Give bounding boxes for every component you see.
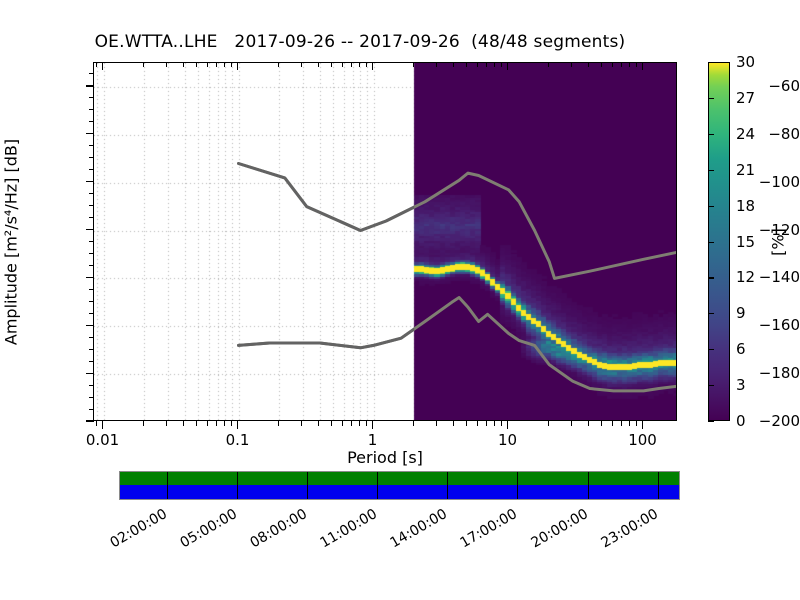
- colorbar-tick: [708, 421, 714, 422]
- x-tick: [601, 421, 602, 426]
- y-tick-minor: [89, 241, 94, 242]
- x-axis-label: Period [s]: [93, 448, 677, 467]
- x-tick: [301, 421, 302, 426]
- x-tick: [494, 421, 495, 426]
- timeline-tick: [167, 472, 168, 500]
- x-tick-top: [466, 62, 467, 67]
- x-tick-top: [331, 62, 332, 67]
- x-tick-top: [571, 62, 572, 67]
- timeline-tick: [658, 472, 659, 500]
- x-tick: [96, 421, 97, 426]
- y-tick: [86, 85, 94, 86]
- colorbar-tick-label: 15: [736, 233, 755, 251]
- timeline-row-data-availability: [120, 472, 679, 485]
- x-tick-top: [196, 62, 197, 67]
- y-tick-minor: [89, 217, 94, 218]
- y-tick-minor: [89, 397, 94, 398]
- y-tick-minor: [89, 145, 94, 146]
- y-tick-minor: [89, 409, 94, 410]
- x-tick: [318, 421, 319, 426]
- y-tick-minor: [89, 157, 94, 158]
- y-tick-minor: [89, 385, 94, 386]
- colorbar-tick: [708, 62, 714, 63]
- colorbar-tick: [708, 242, 714, 243]
- timeline-tick-label: 14:00:00: [388, 506, 450, 551]
- x-tick: [642, 421, 643, 429]
- y-tick: [86, 420, 94, 421]
- colorbar-tick: [708, 98, 714, 99]
- colorbar-unit-label: [%]: [766, 62, 790, 421]
- y-tick-minor: [89, 169, 94, 170]
- x-tick: [166, 421, 167, 426]
- y-tick-minor: [89, 265, 94, 266]
- page-title: OE.WTTA..LHE 2017-09-26 -- 2017-09-26 (4…: [0, 32, 720, 52]
- x-tick-top: [501, 62, 502, 67]
- y-tick: [86, 181, 94, 182]
- x-tick: [629, 421, 630, 426]
- colorbar-tick: [708, 134, 714, 135]
- y-tick: [86, 277, 94, 278]
- x-tick: [612, 421, 613, 426]
- colorbar-tick: [708, 277, 714, 278]
- timeline-tick-label: 02:00:00: [107, 506, 169, 551]
- x-tick-top: [351, 62, 352, 67]
- y-tick-minor: [89, 313, 94, 314]
- colorbar-tick-label: 3: [736, 376, 746, 394]
- x-tick-label: 1: [368, 431, 378, 449]
- x-tick-top: [494, 62, 495, 67]
- x-tick: [196, 421, 197, 426]
- timeline-tick: [377, 472, 378, 500]
- y-tick: [86, 133, 94, 134]
- y-axis-label-text: Amplitude [m²/s⁴/Hz] [dB]: [2, 138, 21, 344]
- ppsd-plot-area: [93, 62, 677, 421]
- nlnm-curve-white-segment: [239, 298, 678, 391]
- y-axis-label: Amplitude [m²/s⁴/Hz] [dB]: [0, 62, 24, 421]
- y-tick-minor: [89, 73, 94, 74]
- x-tick-top: [642, 62, 643, 70]
- y-tick-minor: [89, 349, 94, 350]
- timeline-tick: [447, 472, 448, 500]
- x-tick: [207, 421, 208, 426]
- x-tick: [231, 421, 232, 426]
- y-tick: [86, 325, 94, 326]
- timeline-tick: [588, 472, 589, 500]
- y-tick-minor: [89, 121, 94, 122]
- colorbar-tick-label: 9: [736, 304, 746, 322]
- x-tick-label: 100: [628, 431, 657, 449]
- x-tick-label: 0.01: [86, 431, 119, 449]
- x-tick-top: [301, 62, 302, 67]
- x-tick-top: [342, 62, 343, 67]
- x-tick: [453, 421, 454, 426]
- x-tick-top: [318, 62, 319, 67]
- x-tick-top: [486, 62, 487, 67]
- colorbar-tick-label: 6: [736, 340, 746, 358]
- x-tick: [366, 421, 367, 426]
- x-tick: [278, 421, 279, 426]
- x-tick-top: [216, 62, 217, 67]
- x-tick: [143, 421, 144, 426]
- x-tick: [224, 421, 225, 426]
- x-tick: [548, 421, 549, 426]
- nhnm-curve: [239, 164, 678, 279]
- timeline-tick-label: 08:00:00: [248, 506, 310, 551]
- x-tick: [331, 421, 332, 426]
- y-tick-minor: [89, 337, 94, 338]
- x-tick-top: [102, 62, 103, 70]
- y-tick-minor: [89, 361, 94, 362]
- timeline-tick-label: 23:00:00: [598, 506, 660, 551]
- y-tick: [86, 229, 94, 230]
- y-tick-minor: [89, 253, 94, 254]
- y-tick-minor: [89, 301, 94, 302]
- colorbar-tick-label: 0: [736, 412, 746, 430]
- y-tick-minor: [89, 97, 94, 98]
- x-tick-top: [629, 62, 630, 67]
- x-tick-label: 10: [498, 431, 517, 449]
- x-tick: [342, 421, 343, 426]
- x-tick-top: [359, 62, 360, 67]
- timeline-tick-label: 11:00:00: [318, 506, 380, 551]
- x-tick-top: [143, 62, 144, 67]
- colorbar-tick-label: 21: [736, 161, 755, 179]
- colorbar-tick: [708, 170, 714, 171]
- x-tick: [466, 421, 467, 426]
- x-tick-top: [548, 62, 549, 67]
- x-tick-top: [183, 62, 184, 67]
- y-tick-minor: [89, 193, 94, 194]
- timeline-tick: [237, 472, 238, 500]
- x-tick-top: [207, 62, 208, 67]
- timeline-tick: [307, 472, 308, 500]
- x-tick: [486, 421, 487, 426]
- x-tick-top: [436, 62, 437, 67]
- x-tick-top: [96, 62, 97, 67]
- colorbar-tick-label: 24: [736, 125, 755, 143]
- x-tick-top: [453, 62, 454, 67]
- x-tick-label: 0.1: [226, 431, 250, 449]
- colorbar-tick: [708, 385, 714, 386]
- x-tick-top: [601, 62, 602, 67]
- x-tick-top: [366, 62, 367, 67]
- x-tick: [636, 421, 637, 426]
- x-tick: [237, 421, 238, 429]
- x-tick: [351, 421, 352, 426]
- timeline-row-segment-coverage: [120, 485, 679, 500]
- x-tick: [501, 421, 502, 426]
- colorbar-tick: [708, 206, 714, 207]
- x-tick-top: [477, 62, 478, 67]
- x-tick-top: [278, 62, 279, 67]
- y-tick-minor: [89, 109, 94, 110]
- x-tick-top: [636, 62, 637, 67]
- colorbar-tick-label: 12: [736, 268, 755, 286]
- noise-model-curves: [94, 63, 677, 421]
- x-tick: [359, 421, 360, 426]
- timeline-tick-label: 17:00:00: [458, 506, 520, 551]
- x-tick: [183, 421, 184, 426]
- y-tick: [86, 373, 94, 374]
- x-tick-top: [413, 62, 414, 67]
- x-tick: [216, 421, 217, 426]
- x-tick-top: [588, 62, 589, 67]
- colorbar-tick: [708, 349, 714, 350]
- x-tick: [621, 421, 622, 426]
- colorbar-tick-label: 27: [736, 89, 755, 107]
- y-tick-minor: [89, 289, 94, 290]
- x-tick: [507, 421, 508, 429]
- ppsd-figure: OE.WTTA..LHE 2017-09-26 -- 2017-09-26 (4…: [0, 0, 800, 600]
- x-tick-top: [612, 62, 613, 67]
- data-availability-timeline: [119, 471, 680, 500]
- timeline-tick-label: 05:00:00: [177, 506, 239, 551]
- x-tick: [413, 421, 414, 426]
- x-tick-top: [372, 62, 373, 70]
- timeline-tick-label: 20:00:00: [528, 506, 590, 551]
- x-tick-top: [237, 62, 238, 70]
- x-tick: [588, 421, 589, 426]
- colorbar-tick-label: 30: [736, 53, 755, 71]
- colorbar-unit-text: [%]: [769, 228, 788, 256]
- x-tick-top: [166, 62, 167, 67]
- x-tick-top: [224, 62, 225, 67]
- x-tick-top: [507, 62, 508, 70]
- x-tick-top: [621, 62, 622, 67]
- x-tick: [372, 421, 373, 429]
- y-tick-minor: [89, 205, 94, 206]
- x-tick: [477, 421, 478, 426]
- colorbar-tick-label: 18: [736, 197, 755, 215]
- timeline-tick: [517, 472, 518, 500]
- colorbar-tick: [708, 313, 714, 314]
- x-tick: [571, 421, 572, 426]
- x-tick-top: [231, 62, 232, 67]
- x-tick: [102, 421, 103, 429]
- x-tick: [436, 421, 437, 426]
